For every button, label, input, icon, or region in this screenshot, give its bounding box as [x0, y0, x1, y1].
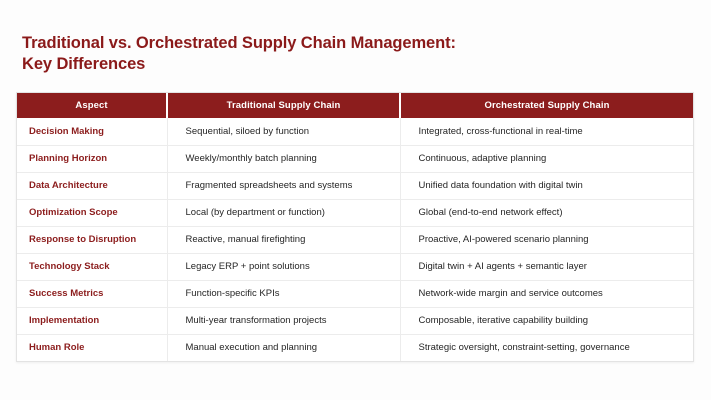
cell-aspect: Decision Making [17, 118, 167, 145]
cell-orchestrated: Proactive, AI-powered scenario planning [400, 226, 693, 253]
cell-orchestrated: Unified data foundation with digital twi… [400, 172, 693, 199]
cell-orchestrated: Composable, iterative capability buildin… [400, 307, 693, 334]
cell-traditional: Weekly/monthly batch planning [167, 145, 400, 172]
cell-aspect: Optimization Scope [17, 199, 167, 226]
cell-orchestrated: Integrated, cross-functional in real-tim… [400, 118, 693, 145]
cell-aspect: Success Metrics [17, 280, 167, 307]
table-row: Response to Disruption Reactive, manual … [17, 226, 693, 253]
table-header-row: Aspect Traditional Supply Chain Orchestr… [17, 93, 693, 118]
cell-traditional: Local (by department or function) [167, 199, 400, 226]
page-title-line-2: Key Differences [22, 54, 682, 75]
cell-orchestrated: Network-wide margin and service outcomes [400, 280, 693, 307]
table-row: Human Role Manual execution and planning… [17, 334, 693, 361]
cell-orchestrated: Digital twin + AI agents + semantic laye… [400, 253, 693, 280]
cell-aspect: Planning Horizon [17, 145, 167, 172]
slide-canvas: Traditional vs. Orchestrated Supply Chai… [0, 0, 711, 400]
comparison-table-container: Aspect Traditional Supply Chain Orchestr… [16, 92, 694, 362]
page-title: Traditional vs. Orchestrated Supply Chai… [22, 33, 682, 75]
table-row: Decision Making Sequential, siloed by fu… [17, 118, 693, 145]
table-row: Data Architecture Fragmented spreadsheet… [17, 172, 693, 199]
cell-traditional: Fragmented spreadsheets and systems [167, 172, 400, 199]
cell-traditional: Sequential, siloed by function [167, 118, 400, 145]
comparison-table: Aspect Traditional Supply Chain Orchestr… [17, 93, 693, 361]
cell-orchestrated: Strategic oversight, constraint-setting,… [400, 334, 693, 361]
column-header-traditional: Traditional Supply Chain [167, 93, 400, 118]
cell-traditional: Manual execution and planning [167, 334, 400, 361]
cell-orchestrated: Continuous, adaptive planning [400, 145, 693, 172]
cell-traditional: Multi-year transformation projects [167, 307, 400, 334]
table-row: Optimization Scope Local (by department … [17, 199, 693, 226]
table-row: Planning Horizon Weekly/monthly batch pl… [17, 145, 693, 172]
page-title-line-1: Traditional vs. Orchestrated Supply Chai… [22, 33, 682, 54]
table-row: Technology Stack Legacy ERP + point solu… [17, 253, 693, 280]
cell-aspect: Data Architecture [17, 172, 167, 199]
cell-traditional: Legacy ERP + point solutions [167, 253, 400, 280]
cell-traditional: Function-specific KPIs [167, 280, 400, 307]
cell-orchestrated: Global (end-to-end network effect) [400, 199, 693, 226]
table-row: Success Metrics Function-specific KPIs N… [17, 280, 693, 307]
column-header-aspect: Aspect [17, 93, 167, 118]
table-row: Implementation Multi-year transformation… [17, 307, 693, 334]
cell-aspect: Response to Disruption [17, 226, 167, 253]
cell-aspect: Human Role [17, 334, 167, 361]
column-header-orchestrated: Orchestrated Supply Chain [400, 93, 693, 118]
cell-traditional: Reactive, manual firefighting [167, 226, 400, 253]
cell-aspect: Implementation [17, 307, 167, 334]
cell-aspect: Technology Stack [17, 253, 167, 280]
table-body: Decision Making Sequential, siloed by fu… [17, 118, 693, 361]
table-header: Aspect Traditional Supply Chain Orchestr… [17, 93, 693, 118]
